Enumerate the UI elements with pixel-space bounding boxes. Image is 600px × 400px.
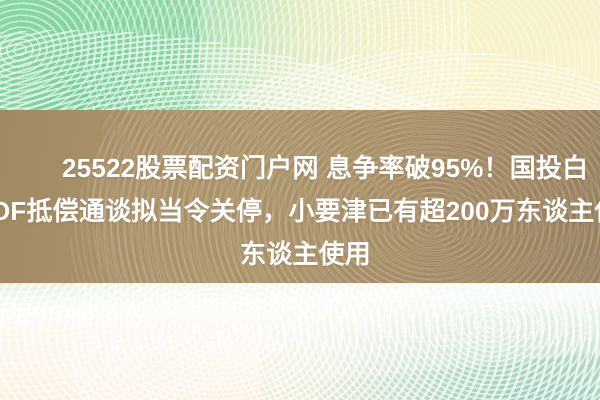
- headline-line-3: 东谈主使用: [240, 241, 371, 267]
- headline-line-2: OF抵偿通谈拟当令关停，小要津已有超200万东谈主使: [0, 198, 600, 224]
- headline-text-block: 25522股票配资门户网 息争率破95%！国投白 OF抵偿通谈拟当令关停，小要津…: [0, 110, 600, 283]
- headline-line-1: 25522股票配资门户网 息争率破95%！国投白: [62, 155, 588, 181]
- banner-image: 25522股票配资门户网 息争率破95%！国投白 OF抵偿通谈拟当令关停，小要津…: [0, 0, 600, 400]
